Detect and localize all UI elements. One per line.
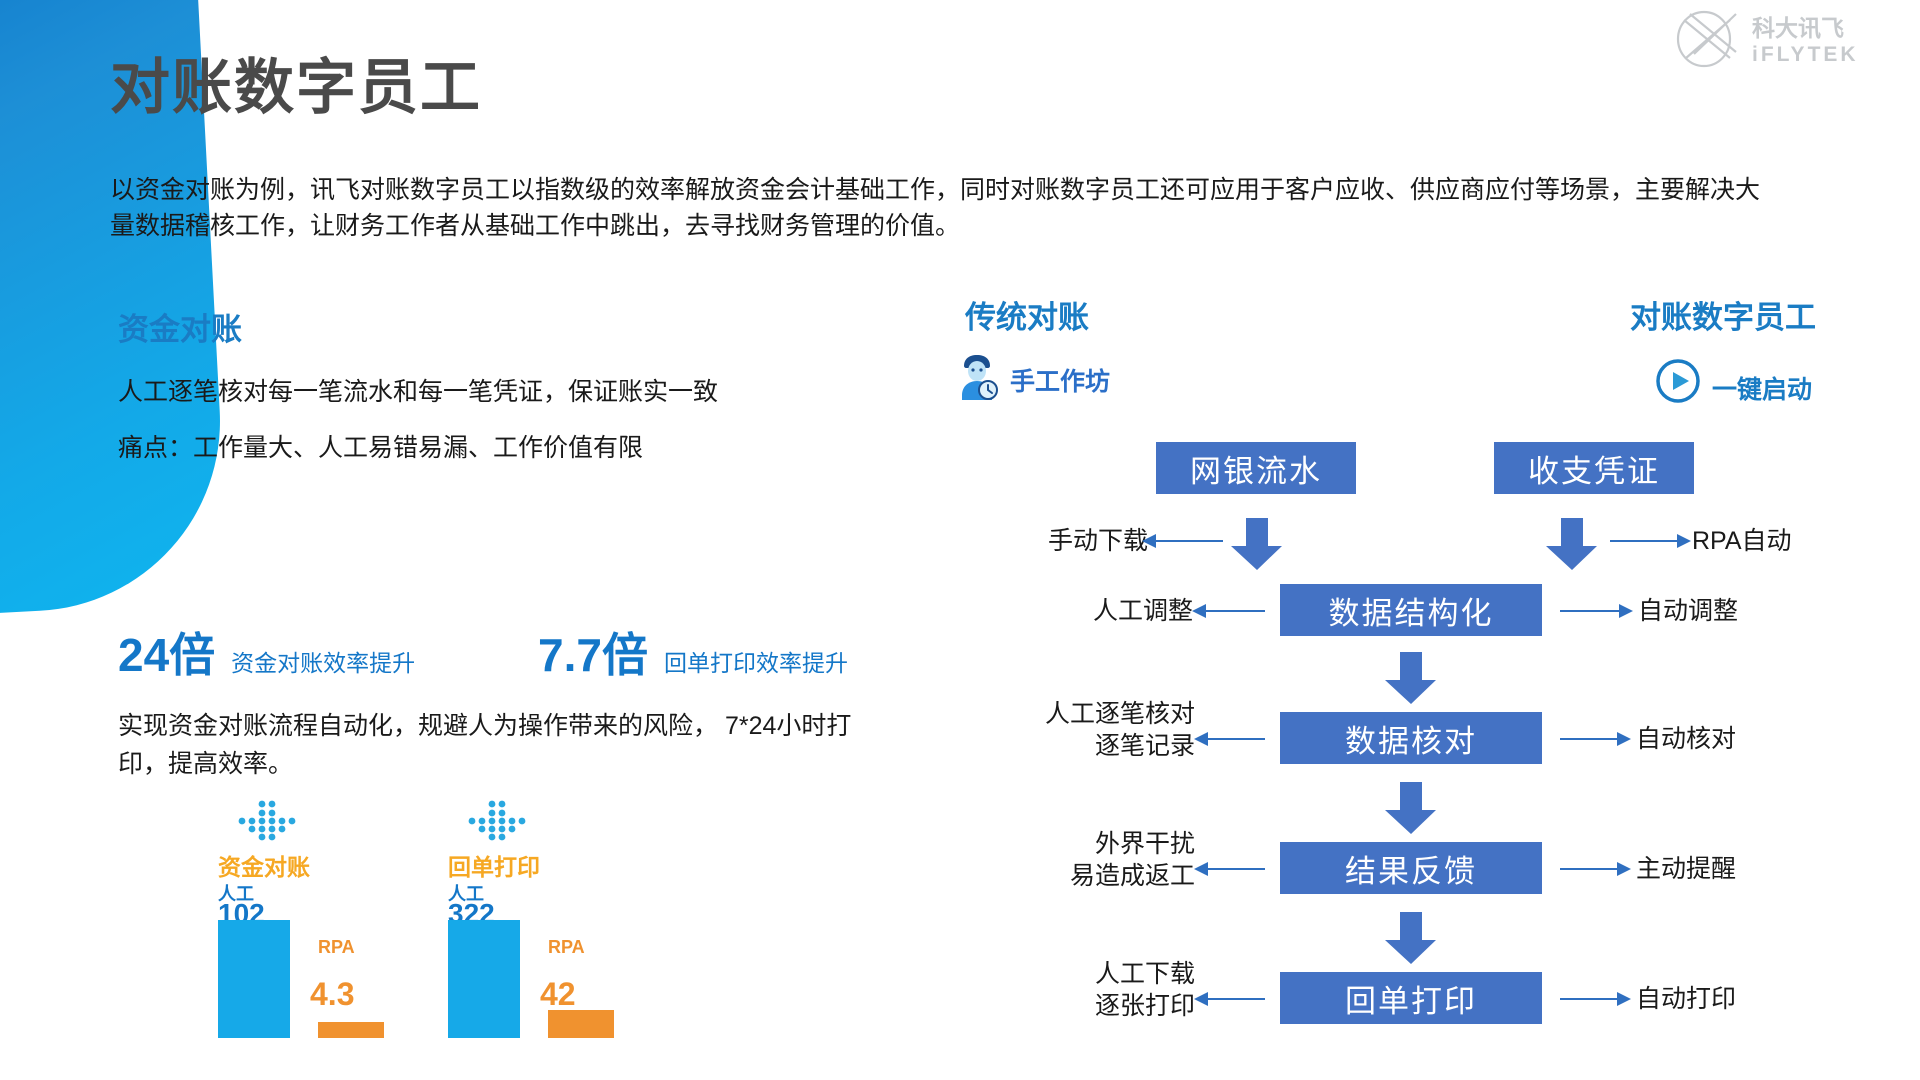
arrow-right-step-2 <box>1560 738 1618 740</box>
flow-box-step-2[interactable]: 数据核对 <box>1280 712 1542 764</box>
slide-root: 科大讯飞 iFLYTEK 对账数字员工 以资金对账为例，讯飞对账数字员工以指数级… <box>0 0 1920 1080</box>
flow-left-step-1: 人工调整 <box>1065 595 1193 627</box>
arrow-left-step-4 <box>1207 998 1265 1000</box>
arrow-left-step-3 <box>1207 868 1265 870</box>
chart-value-rpa: 42 <box>540 978 576 1010</box>
metric-item: 24倍 资金对账效率提升 <box>118 632 415 678</box>
worker-icon <box>955 352 999 400</box>
chart-series-label-rpa: RPA <box>548 937 585 958</box>
traditional-badge-label: 手工作坊 <box>1010 362 1110 398</box>
play-circle-icon[interactable] <box>1655 358 1701 404</box>
arrow-left-step-2 <box>1207 738 1265 740</box>
flow-left-step-4-line2: 逐张打印 <box>1060 990 1195 1022</box>
down-arrow-icon <box>1545 518 1599 570</box>
flow-box-top-1[interactable]: 网银流水 <box>1156 442 1356 494</box>
flow-side-left-top: 手动下载 <box>1020 525 1148 557</box>
chart-group-title: 资金对账 <box>218 848 310 882</box>
flow-box-top-2[interactable]: 收支凭证 <box>1494 442 1694 494</box>
metric-label: 资金对账效率提升 <box>231 644 415 678</box>
flow-box-step-3[interactable]: 结果反馈 <box>1280 842 1542 894</box>
flow-left-step-3-line2: 易造成返工 <box>1060 860 1195 892</box>
svg-text:科大讯飞: 科大讯飞 <box>1752 16 1844 42</box>
digital-heading: 对账数字员工 <box>1630 292 1816 337</box>
flow-box-step-4[interactable]: 回单打印 <box>1280 972 1542 1024</box>
metric-item: 7.7倍 回单打印效率提升 <box>538 632 848 678</box>
flow-side-right-top: RPA自动 <box>1692 525 1862 557</box>
chart-group: 资金对账 人工 102 RPA 4.3 <box>200 800 430 1070</box>
efficiency-bar-chart: 资金对账 人工 102 RPA 4.3 回单打印 人工 322 R <box>190 800 670 1070</box>
page-title: 对账数字员工 <box>110 58 482 118</box>
arrow-left-step-1 <box>1205 610 1265 612</box>
flow-left-step-3: 外界干扰 易造成返工 <box>1060 828 1195 892</box>
flow-right-step-3: 主动提醒 <box>1636 853 1806 885</box>
flow-left-step-2-line2: 逐笔记录 <box>1040 730 1195 762</box>
digital-badge-label: 一键启动 <box>1712 370 1812 406</box>
flow-left-step-4-line1: 人工下载 <box>1060 958 1195 990</box>
chart-bar-manual <box>218 920 290 1038</box>
left-section-heading: 资金对账 <box>118 304 242 349</box>
metric-label: 回单打印效率提升 <box>664 644 848 678</box>
flow-left-step-4: 人工下载 逐张打印 <box>1060 958 1195 1022</box>
flow-box-step-1[interactable]: 数据结构化 <box>1280 584 1542 636</box>
chart-group-title: 回单打印 <box>448 848 540 882</box>
flow-left-step-2-line1: 人工逐笔核对 <box>1040 698 1195 730</box>
dot-arrow-icon <box>466 800 530 842</box>
left-summary-paragraph: 实现资金对账流程自动化，规避人为操作带来的风险， 7*24小时打印，提高效率。 <box>118 708 858 783</box>
chart-group: 回单打印 人工 322 RPA 42 <box>430 800 660 1070</box>
flow-right-step-2: 自动核对 <box>1636 723 1806 755</box>
metric-value: 24倍 <box>118 632 215 678</box>
left-painpoint-line: 痛点：工作量大、人工易错易漏、工作价值有限 <box>118 428 643 464</box>
flow-left-step-2: 人工逐笔核对 逐笔记录 <box>1040 698 1195 762</box>
down-arrow-icon <box>1230 518 1284 570</box>
dot-arrow-icon <box>236 800 300 842</box>
metrics-row: 24倍 资金对账效率提升 7.7倍 回单打印效率提升 <box>118 632 918 692</box>
chart-series-label-rpa: RPA <box>318 937 355 958</box>
arrow-right-step-4 <box>1560 998 1618 1000</box>
flow-right-step-1: 自动调整 <box>1638 595 1808 627</box>
intro-paragraph: 以资金对账为例，讯飞对账数字员工以指数级的效率解放资金会计基础工作，同时对账数字… <box>110 172 1780 245</box>
down-arrow-icon <box>1384 912 1438 964</box>
arrow-right-step-1 <box>1560 610 1620 612</box>
chart-bar-rpa <box>548 1010 614 1038</box>
arrow-left-top <box>1155 540 1223 542</box>
chart-bar-manual <box>448 920 520 1038</box>
arrow-right-top <box>1610 540 1678 542</box>
traditional-heading: 传统对账 <box>965 292 1089 337</box>
down-arrow-icon <box>1384 782 1438 834</box>
flow-right-step-4: 自动打印 <box>1636 983 1806 1015</box>
arrow-right-step-3 <box>1560 868 1618 870</box>
down-arrow-icon <box>1384 652 1438 704</box>
svg-text:iFLYTEK: iFLYTEK <box>1752 43 1859 66</box>
metric-value: 7.7倍 <box>538 632 648 678</box>
chart-bar-rpa <box>318 1022 384 1038</box>
left-description-line-1: 人工逐笔核对每一笔流水和每一笔凭证，保证账实一致 <box>118 372 718 408</box>
iflytek-logo: 科大讯飞 iFLYTEK <box>1660 8 1890 70</box>
flow-left-step-3-line1: 外界干扰 <box>1060 828 1195 860</box>
chart-value-rpa: 4.3 <box>310 978 354 1010</box>
